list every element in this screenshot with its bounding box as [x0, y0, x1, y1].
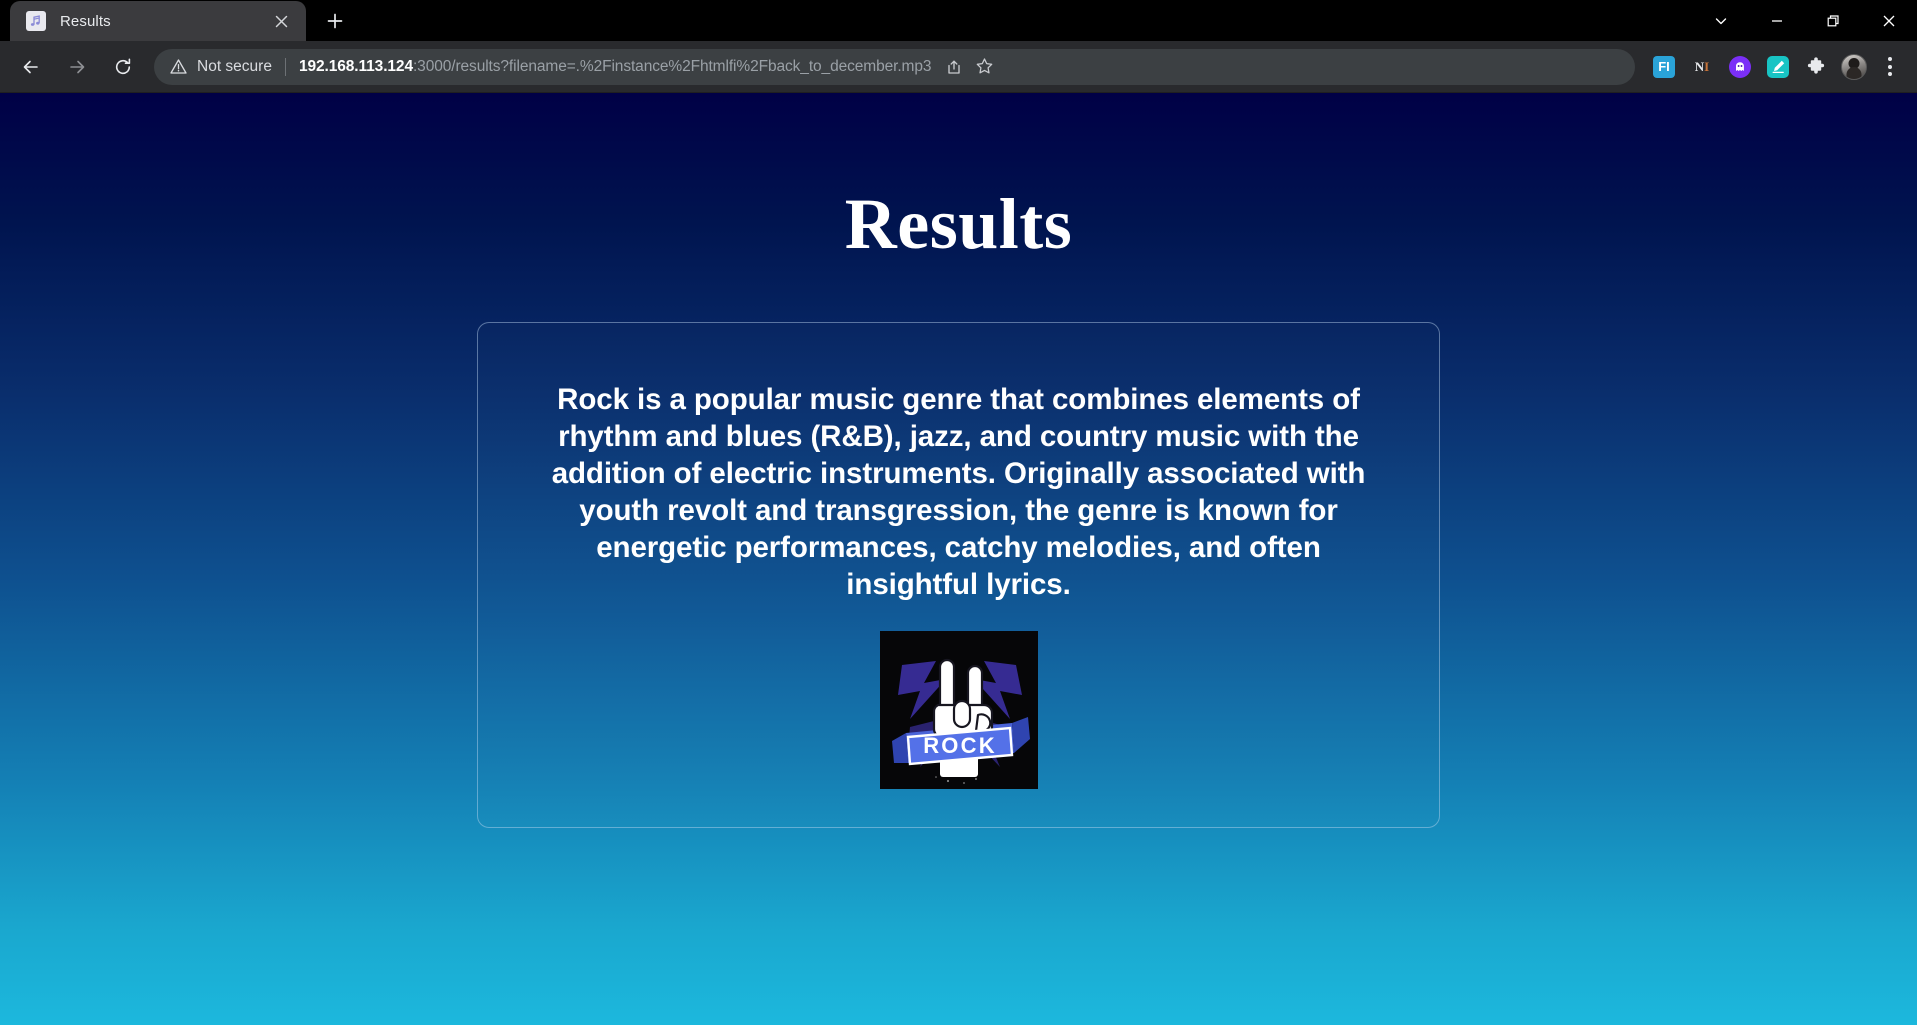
url-path: :3000/results?filename=.%2Finstance%2Fht…: [413, 58, 931, 75]
close-tab-icon[interactable]: [268, 8, 294, 34]
extension-ghost-icon[interactable]: [1721, 48, 1759, 86]
music-note-favicon: [26, 11, 46, 31]
tab-results[interactable]: Results: [10, 1, 306, 41]
result-card: Rock is a popular music genre that combi…: [477, 322, 1440, 828]
close-window-button[interactable]: [1861, 0, 1917, 41]
address-bar[interactable]: Not secure 192.168.113.124:3000/results?…: [154, 49, 1635, 85]
tab-title: Results: [60, 13, 268, 30]
back-button[interactable]: [12, 48, 50, 86]
extensions-bar: FI NI: [1645, 48, 1907, 86]
browser-titlebar: Results: [0, 0, 1917, 41]
new-tab-button[interactable]: [318, 4, 352, 38]
window-controls: [1693, 0, 1917, 41]
page-viewport: Results Rock is a popular music genre th…: [0, 93, 1917, 1025]
reload-button[interactable]: [104, 48, 142, 86]
extension-ni-icon[interactable]: NI: [1683, 48, 1721, 86]
rock-genre-image: ROCK: [880, 631, 1038, 789]
rock-banner-text: ROCK: [923, 733, 997, 758]
genre-description: Rock is a popular music genre that combi…: [530, 381, 1387, 603]
omnibox-divider: [285, 58, 286, 76]
extensions-puzzle-icon[interactable]: [1797, 48, 1835, 86]
url-host: 192.168.113.124: [299, 58, 413, 75]
genre-image-container: ROCK: [530, 631, 1387, 789]
share-icon[interactable]: [939, 52, 969, 82]
chrome-menu-button[interactable]: [1873, 48, 1907, 86]
minimize-button[interactable]: [1749, 0, 1805, 41]
tab-search-button[interactable]: [1693, 0, 1749, 41]
profile-avatar[interactable]: [1835, 48, 1873, 86]
browser-window: Results: [0, 0, 1917, 1025]
warning-triangle-icon: [170, 58, 188, 75]
star-icon[interactable]: [969, 52, 999, 82]
forward-button[interactable]: [58, 48, 96, 86]
maximize-button[interactable]: [1805, 0, 1861, 41]
tab-strip: Results: [0, 0, 352, 41]
extension-fi-icon[interactable]: FI: [1645, 48, 1683, 86]
browser-toolbar: Not secure 192.168.113.124:3000/results?…: [0, 41, 1917, 93]
security-status-label: Not secure: [197, 58, 272, 76]
omnibox-actions: [939, 52, 999, 82]
extension-highlighter-icon[interactable]: [1759, 48, 1797, 86]
page-title: Results: [0, 188, 1917, 260]
url-display: 192.168.113.124:3000/results?filename=.%…: [299, 58, 931, 76]
